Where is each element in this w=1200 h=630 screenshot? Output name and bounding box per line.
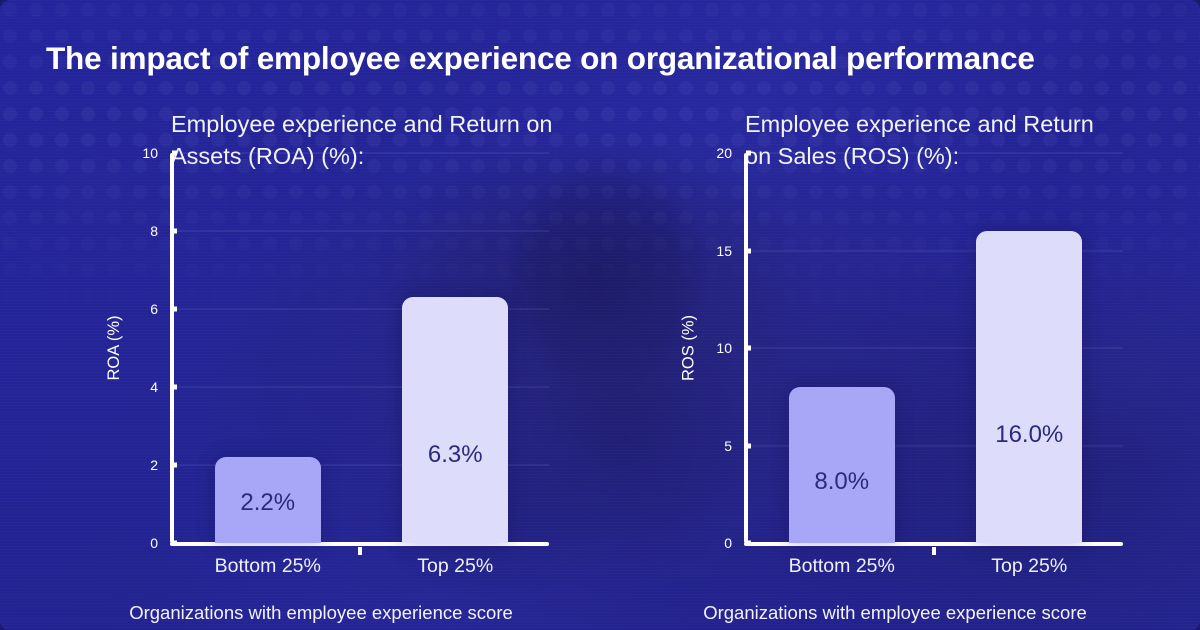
y-tick-label-ros-20: 20 (700, 145, 744, 161)
bar-value-label-roa-0: 2.2% (215, 489, 321, 517)
bar-roa-top-25[interactable]: 6.3% (402, 297, 508, 543)
page-title: The impact of employee experience on org… (46, 40, 1166, 77)
y-axis-title-roa: ROA (%) (105, 315, 124, 380)
y-tick-label-ros-10: 10 (700, 340, 744, 356)
y-tick-label-roa-6: 6 (126, 301, 170, 317)
x-tick-label-ros-top25: Top 25% (919, 555, 1139, 578)
plot-area-roa: ROA (%) 02468102.2%6.3% (126, 153, 541, 543)
bar-value-label-roa-1: 6.3% (402, 441, 508, 469)
bar-slot-ros-1: 16.0% (936, 153, 1124, 543)
chart-title-ros-line1: Employee experience and Return (745, 111, 1094, 137)
y-tick-label-roa-8: 8 (126, 223, 170, 239)
content-layer: The impact of employee experience on org… (0, 0, 1200, 630)
chart-caption-roa: Organizations with employee experience s… (56, 602, 586, 624)
y-tick-label-ros-5: 5 (700, 438, 744, 454)
bar-ros-top-25[interactable]: 16.0% (976, 231, 1082, 543)
infographic-canvas: The impact of employee experience on org… (0, 0, 1200, 630)
bar-roa-bottom-25[interactable]: 2.2% (215, 457, 321, 543)
y-tick-label-ros-15: 15 (700, 243, 744, 259)
y-tick-label-roa-10: 10 (126, 145, 170, 161)
chart-panel-roa: Employee experience and Return on Assets… (56, 100, 586, 610)
chart-panel-ros: Employee experience and Return on Sales … (630, 100, 1160, 610)
y-tick-label-roa-4: 4 (126, 379, 170, 395)
y-axis-title-ros: ROS (%) (680, 315, 699, 381)
bar-slot-ros-0: 8.0% (748, 153, 936, 543)
chart-title-roa-line1: Employee experience and Return on (171, 111, 552, 137)
bar-value-label-ros-0: 8.0% (789, 468, 895, 496)
y-tick-label-roa-0: 0 (126, 535, 170, 551)
bar-slot-roa-0: 2.2% (174, 153, 362, 543)
plot-area-ros: ROS (%) 051015208.0%16.0% (700, 153, 1115, 543)
chart-caption-ros: Organizations with employee experience s… (630, 602, 1160, 624)
x-tick-label-roa-top25: Top 25% (345, 555, 565, 578)
x-axis-center-tick-ros (932, 547, 936, 555)
y-tick-label-ros-0: 0 (700, 535, 744, 551)
bar-group-roa: 2.2%6.3% (174, 153, 549, 543)
bar-group-ros: 8.0%16.0% (748, 153, 1123, 543)
bar-value-label-ros-1: 16.0% (976, 421, 1082, 449)
y-tick-label-roa-2: 2 (126, 457, 170, 473)
bar-ros-bottom-25[interactable]: 8.0% (789, 387, 895, 543)
x-axis-center-tick-roa (358, 547, 362, 555)
bar-slot-roa-1: 6.3% (362, 153, 550, 543)
